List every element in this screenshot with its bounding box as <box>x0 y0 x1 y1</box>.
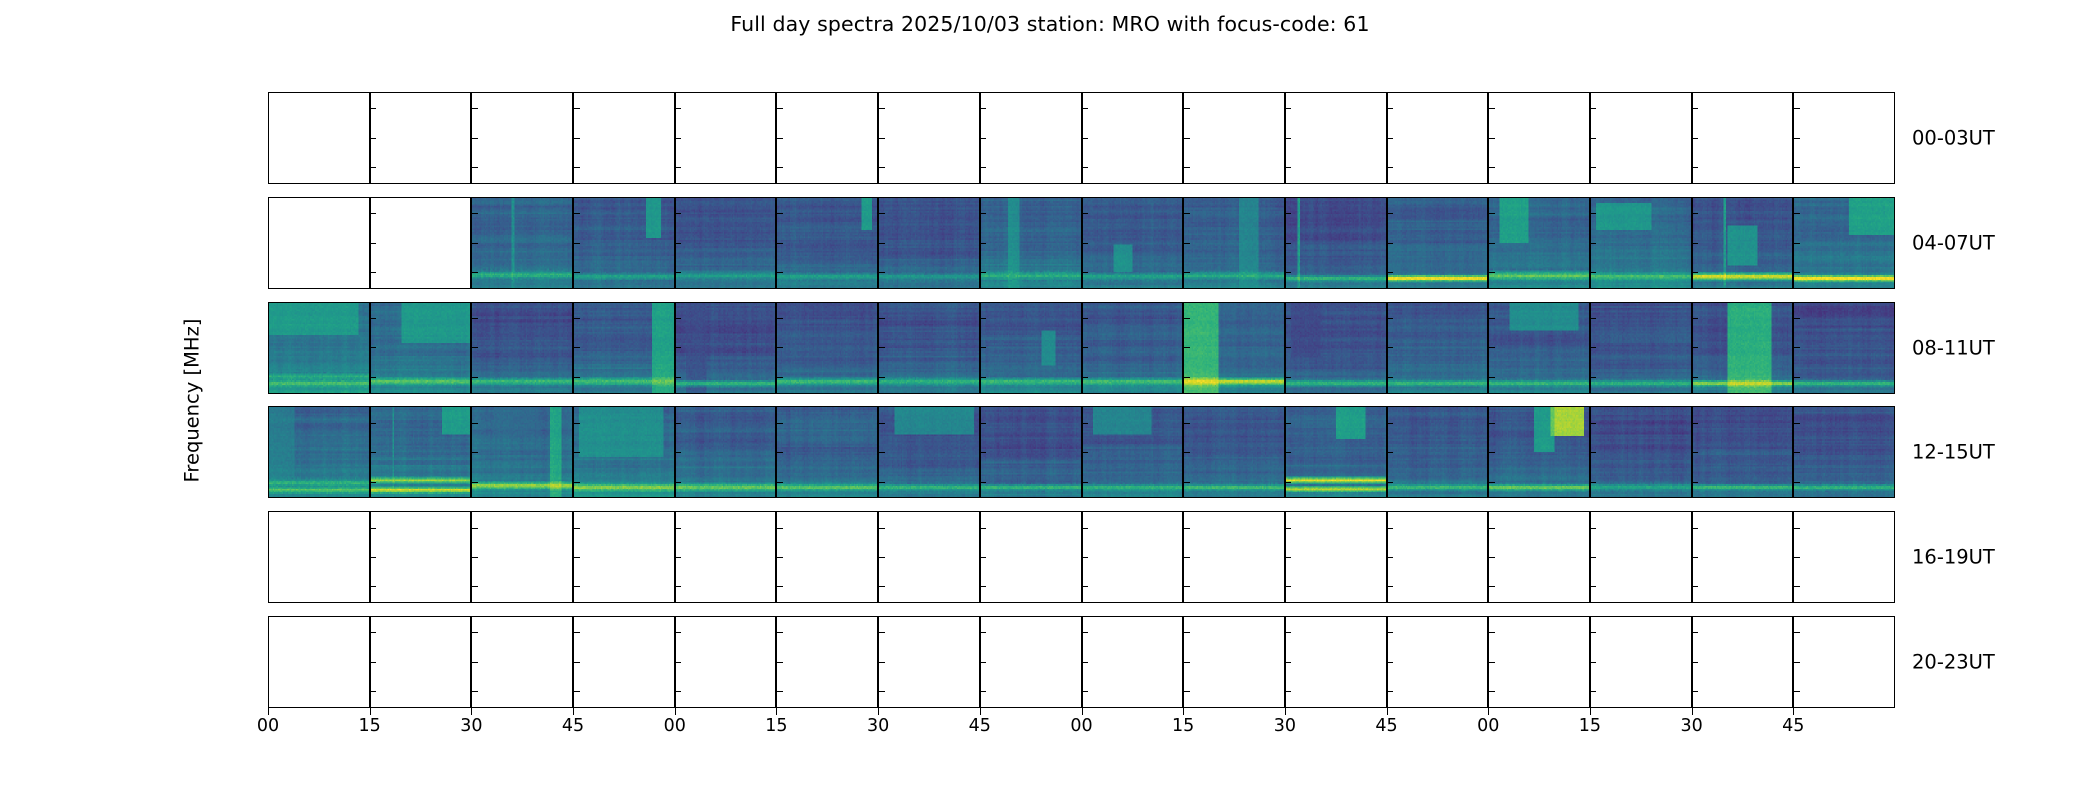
y-tick-mark <box>1286 482 1292 483</box>
y-tick-mark <box>1693 557 1699 558</box>
spectrogram-panel <box>1387 197 1489 289</box>
y-tick-mark <box>472 423 478 424</box>
y-tick-mark <box>1489 318 1495 319</box>
y-tick-mark <box>574 662 580 663</box>
spectrogram-panel <box>1692 511 1794 603</box>
y-tick-mark <box>1591 423 1597 424</box>
y-tick-mark <box>574 318 580 319</box>
y-tick-mark <box>981 557 987 558</box>
y-tick-mark <box>1184 482 1190 483</box>
y-tick-mark <box>1184 528 1190 529</box>
spectrogram-panel <box>1082 302 1184 394</box>
y-tick-mark <box>981 691 987 692</box>
y-tick-mark <box>1184 632 1190 633</box>
y-tick-mark <box>777 243 783 244</box>
y-tick-mark <box>1591 452 1597 453</box>
y-tick-mark <box>1489 557 1495 558</box>
spectrogram-panel <box>1082 406 1184 498</box>
spectrogram-panel <box>1387 616 1489 708</box>
y-tick-mark <box>879 452 885 453</box>
y-tick-mark: 50 <box>268 138 269 139</box>
y-tick-mark <box>1489 452 1495 453</box>
y-tick-mark: 75 <box>268 108 269 109</box>
y-tick-mark <box>777 377 783 378</box>
y-tick-mark <box>676 243 682 244</box>
panel-row-12-15ut: 255075 <box>268 406 1895 498</box>
y-tick-mark <box>574 347 580 348</box>
y-tick-mark <box>1388 272 1394 273</box>
y-tick-mark <box>1489 691 1495 692</box>
y-tick-mark <box>1693 452 1699 453</box>
y-tick-mark <box>1489 272 1495 273</box>
spectrogram-panel <box>1183 406 1285 498</box>
y-tick-mark <box>676 691 682 692</box>
y-tick-mark <box>777 482 783 483</box>
spectrogram-panel <box>1387 511 1489 603</box>
spectrogram-panel <box>1285 511 1387 603</box>
spectrogram-panel: 255075 <box>268 511 370 603</box>
spectrogram-panel <box>1793 616 1895 708</box>
spectrogram-panel <box>980 616 1082 708</box>
y-tick-mark <box>1083 108 1089 109</box>
y-tick-mark <box>879 377 885 378</box>
x-tick-label: 15 <box>765 716 787 736</box>
y-tick-mark <box>472 318 478 319</box>
y-axis-label: Frequency [MHz] <box>181 92 203 708</box>
x-tick-mark <box>675 708 676 715</box>
spectrogram-panel <box>675 511 777 603</box>
x-tick-mark <box>1082 708 1083 715</box>
spectrogram-panel <box>1488 406 1590 498</box>
y-tick-mark <box>879 423 885 424</box>
spectrogram-panel <box>878 302 980 394</box>
y-tick-mark <box>1794 586 1800 587</box>
x-tick-label: 30 <box>1274 716 1296 736</box>
panel-row-00-03ut: 255075 <box>268 92 1895 184</box>
y-tick-mark <box>1388 108 1394 109</box>
y-tick-mark <box>879 632 885 633</box>
spectrogram-image <box>1184 303 1284 393</box>
y-tick-mark <box>879 213 885 214</box>
spectrogram-panel <box>1285 302 1387 394</box>
y-tick-mark <box>1388 452 1394 453</box>
y-tick-mark <box>371 691 377 692</box>
y-tick-mark <box>1184 213 1190 214</box>
y-tick-mark <box>1591 662 1597 663</box>
y-tick-mark <box>777 557 783 558</box>
y-tick-mark <box>1388 347 1394 348</box>
spectrogram-image <box>777 407 877 497</box>
y-tick-mark <box>574 108 580 109</box>
y-tick-mark <box>371 662 377 663</box>
y-tick-mark <box>981 272 987 273</box>
y-tick-mark <box>981 318 987 319</box>
y-tick-mark <box>1184 586 1190 587</box>
y-tick-mark <box>981 213 987 214</box>
spectrogram-panel <box>471 511 573 603</box>
y-tick-mark <box>1388 691 1394 692</box>
y-tick-mark <box>1286 318 1292 319</box>
y-tick-mark <box>1083 167 1089 168</box>
spectrogram-panel <box>776 302 878 394</box>
spectrogram-image <box>1794 303 1894 393</box>
y-tick-mark <box>981 632 987 633</box>
y-tick-mark <box>371 167 377 168</box>
y-tick-mark <box>472 528 478 529</box>
y-tick-mark <box>1489 108 1495 109</box>
spectrogram-panel <box>776 406 878 498</box>
y-tick-mark <box>676 108 682 109</box>
y-tick-mark <box>1591 108 1597 109</box>
y-tick-mark <box>777 423 783 424</box>
y-tick-mark <box>981 586 987 587</box>
y-tick-mark <box>1693 632 1699 633</box>
spectrogram-image <box>676 303 776 393</box>
spectrogram-panel <box>980 511 1082 603</box>
y-tick-mark <box>1286 138 1292 139</box>
x-tick-mark <box>1692 708 1693 715</box>
y-tick-mark <box>1794 662 1800 663</box>
y-tick-mark <box>1489 138 1495 139</box>
y-tick-mark <box>879 318 885 319</box>
y-tick-mark <box>574 557 580 558</box>
spectrogram-image <box>1591 198 1691 288</box>
y-tick-mark <box>1286 528 1292 529</box>
row-label-04-07ut: 04-07UT <box>1912 231 1995 254</box>
spectrogram-panel <box>675 197 777 289</box>
y-tick-mark <box>1591 138 1597 139</box>
y-tick-mark <box>1388 528 1394 529</box>
x-tick-label: 30 <box>460 716 482 736</box>
spectrogram-image <box>1794 198 1894 288</box>
y-tick-mark <box>1083 318 1089 319</box>
y-tick-mark: 50 <box>268 557 269 558</box>
spectrogram-panel <box>370 92 472 184</box>
row-label-16-19ut: 16-19UT <box>1912 546 1995 569</box>
spectrogram-panel <box>878 406 980 498</box>
y-tick-mark <box>981 108 987 109</box>
y-tick-mark <box>1184 662 1190 663</box>
y-tick-mark <box>574 423 580 424</box>
spectrogram-image <box>1286 198 1386 288</box>
x-tick-label: 00 <box>1477 716 1499 736</box>
y-tick-mark <box>472 272 478 273</box>
y-tick-mark <box>1388 213 1394 214</box>
spectrogram-image <box>1693 198 1793 288</box>
y-tick-mark <box>676 347 682 348</box>
spectrogram-panel <box>573 197 675 289</box>
spectrogram-image <box>777 303 877 393</box>
spectrogram-image <box>574 303 674 393</box>
y-tick-mark <box>981 167 987 168</box>
y-tick-mark <box>1083 632 1089 633</box>
y-tick-mark <box>879 528 885 529</box>
x-tick-mark <box>268 708 269 715</box>
row-label-12-15ut: 12-15UT <box>1912 441 1995 464</box>
y-tick-mark: 25 <box>268 272 269 273</box>
y-tick-mark <box>1184 452 1190 453</box>
y-tick-mark <box>676 377 682 378</box>
y-tick-mark <box>472 452 478 453</box>
y-tick-mark <box>981 243 987 244</box>
y-tick-mark <box>1388 482 1394 483</box>
y-tick-mark <box>879 557 885 558</box>
y-tick-mark <box>1489 347 1495 348</box>
spectrogram-panel: 255075 <box>268 302 370 394</box>
spectrogram-panel <box>878 616 980 708</box>
y-tick-mark <box>371 632 377 633</box>
y-tick-mark <box>1693 586 1699 587</box>
spectrogram-panel <box>370 616 472 708</box>
spectrogram-image <box>1083 198 1183 288</box>
spectrogram-figure: Full day spectra 2025/10/03 station: MRO… <box>0 0 2100 800</box>
y-tick-mark <box>1083 272 1089 273</box>
spectrogram-panel <box>878 92 980 184</box>
y-tick-mark <box>1591 167 1597 168</box>
spectrogram-image <box>371 407 471 497</box>
spectrogram-image <box>1693 407 1793 497</box>
spectrogram-image <box>676 407 776 497</box>
y-tick-mark <box>1591 482 1597 483</box>
spectrogram-panel <box>573 511 675 603</box>
y-tick-mark <box>1489 213 1495 214</box>
y-tick-mark <box>777 586 783 587</box>
y-tick-mark <box>574 632 580 633</box>
spectrogram-image <box>981 407 1081 497</box>
y-tick-mark <box>1794 691 1800 692</box>
y-tick-mark <box>1184 108 1190 109</box>
spectrogram-panel <box>776 616 878 708</box>
y-tick-mark <box>1083 138 1089 139</box>
y-tick-mark <box>1693 528 1699 529</box>
y-tick-mark <box>981 528 987 529</box>
x-tick-mark <box>1387 708 1388 715</box>
y-tick-mark <box>777 662 783 663</box>
spectrogram-image <box>1489 303 1589 393</box>
y-tick-mark <box>1489 243 1495 244</box>
y-tick-mark <box>1388 632 1394 633</box>
spectrogram-panel <box>370 302 472 394</box>
x-tick-label: 15 <box>1579 716 1601 736</box>
x-tick-label: 30 <box>1680 716 1702 736</box>
y-tick-mark <box>981 377 987 378</box>
spectrogram-panel <box>675 302 777 394</box>
y-tick-mark <box>472 586 478 587</box>
y-tick-mark <box>1794 167 1800 168</box>
y-tick-mark <box>1184 272 1190 273</box>
y-tick-mark <box>1591 347 1597 348</box>
spectrogram-panel: 255075 <box>268 92 370 184</box>
spectrogram-panel <box>1082 197 1184 289</box>
y-tick-mark <box>981 347 987 348</box>
y-tick-mark <box>1286 108 1292 109</box>
y-tick-mark <box>371 557 377 558</box>
spectrogram-panel <box>776 92 878 184</box>
y-tick-mark <box>574 691 580 692</box>
y-tick-mark <box>1591 691 1597 692</box>
y-tick-mark <box>777 138 783 139</box>
y-tick-mark <box>1083 347 1089 348</box>
y-tick-mark <box>1591 528 1597 529</box>
panel-grid: 255075255075255075255075255075255075 <box>268 92 1895 708</box>
y-tick-mark <box>1489 586 1495 587</box>
y-tick-mark <box>1794 632 1800 633</box>
y-tick-mark <box>1591 586 1597 587</box>
y-tick-mark <box>1693 377 1699 378</box>
spectrogram-panel <box>1488 197 1590 289</box>
spectrogram-panel <box>471 616 573 708</box>
spectrogram-panel <box>370 511 472 603</box>
x-tick-label: 00 <box>257 716 279 736</box>
spectrogram-image <box>981 303 1081 393</box>
y-tick-mark <box>1184 347 1190 348</box>
spectrogram-image <box>1591 303 1691 393</box>
y-tick-mark <box>1286 452 1292 453</box>
spectrogram-panel <box>1488 616 1590 708</box>
y-tick-mark <box>981 423 987 424</box>
y-tick-mark <box>1184 377 1190 378</box>
spectrogram-panel <box>471 302 573 394</box>
x-tick-mark <box>878 708 879 715</box>
spectrogram-image <box>472 303 572 393</box>
y-tick-mark <box>1388 586 1394 587</box>
y-tick-mark <box>1388 377 1394 378</box>
x-tick-label: 45 <box>562 716 584 736</box>
y-tick-mark <box>879 586 885 587</box>
y-tick-mark <box>1286 586 1292 587</box>
y-tick-mark <box>1083 691 1089 692</box>
y-tick-mark <box>1083 528 1089 529</box>
y-tick-mark <box>1286 243 1292 244</box>
y-tick-mark: 25 <box>268 167 269 168</box>
y-tick-mark <box>676 662 682 663</box>
y-tick-mark <box>472 167 478 168</box>
y-tick-mark <box>371 272 377 273</box>
y-tick-mark: 25 <box>268 586 269 587</box>
y-tick-mark <box>1083 586 1089 587</box>
y-tick-mark <box>472 691 478 692</box>
y-tick-mark <box>1693 347 1699 348</box>
y-tick-mark <box>1591 632 1597 633</box>
y-tick-mark <box>777 452 783 453</box>
y-tick-mark <box>371 347 377 348</box>
y-tick-mark <box>1591 213 1597 214</box>
y-tick-mark <box>1286 423 1292 424</box>
x-tick-label: 45 <box>969 716 991 736</box>
y-tick-mark <box>371 138 377 139</box>
y-tick-mark <box>1083 213 1089 214</box>
y-tick-mark: 50 <box>268 452 269 453</box>
spectrogram-image <box>1693 303 1793 393</box>
spectrogram-panel <box>1793 406 1895 498</box>
y-tick-mark <box>1083 662 1089 663</box>
y-tick-mark <box>676 318 682 319</box>
y-tick-mark <box>1286 557 1292 558</box>
y-tick-mark <box>371 377 377 378</box>
spectrogram-panel <box>1488 511 1590 603</box>
y-tick-mark <box>777 318 783 319</box>
y-tick-mark <box>1693 213 1699 214</box>
y-tick-mark <box>676 213 682 214</box>
spectrogram-panel <box>675 92 777 184</box>
y-tick-mark: 25 <box>268 377 269 378</box>
spectrogram-panel <box>1183 616 1285 708</box>
spectrogram-panel <box>675 616 777 708</box>
y-tick-mark <box>1693 138 1699 139</box>
y-tick-mark <box>1794 347 1800 348</box>
spectrogram-panel <box>471 197 573 289</box>
y-tick-mark: 75 <box>268 528 269 529</box>
y-tick-mark: 25 <box>268 482 269 483</box>
panel-row-20-23ut: 255075 <box>268 616 1895 708</box>
y-tick-mark <box>574 377 580 378</box>
y-tick-mark <box>777 213 783 214</box>
y-tick-mark <box>1794 452 1800 453</box>
y-tick-mark <box>981 452 987 453</box>
x-tick-mark <box>1488 708 1489 715</box>
y-tick-mark: 75 <box>268 318 269 319</box>
y-tick-mark <box>371 243 377 244</box>
y-tick-mark <box>1794 557 1800 558</box>
y-tick-mark <box>1286 377 1292 378</box>
spectrogram-panel <box>675 406 777 498</box>
y-tick-mark <box>1286 662 1292 663</box>
y-tick-mark <box>1184 691 1190 692</box>
row-label-08-11ut: 08-11UT <box>1912 336 1995 359</box>
spectrogram-image <box>1794 407 1894 497</box>
y-tick-mark <box>1693 318 1699 319</box>
x-axis: 00153045001530450015304500153045 <box>268 708 1895 748</box>
spectrogram-panel <box>1488 302 1590 394</box>
x-tick-mark <box>1793 708 1794 715</box>
y-tick-mark <box>777 167 783 168</box>
y-tick-mark: 50 <box>268 243 269 244</box>
y-tick-mark <box>472 213 478 214</box>
spectrogram-panel <box>471 406 573 498</box>
y-tick-mark <box>676 272 682 273</box>
x-tick-label: 30 <box>867 716 889 736</box>
spectrogram-panel <box>1488 92 1590 184</box>
spectrogram-image <box>1083 407 1183 497</box>
spectrogram-image <box>269 407 369 497</box>
y-tick-mark <box>1286 632 1292 633</box>
y-tick-mark <box>574 482 580 483</box>
y-tick-mark <box>1184 138 1190 139</box>
y-tick-mark: 25 <box>268 691 269 692</box>
y-tick-mark <box>574 272 580 273</box>
spectrogram-panel <box>1082 511 1184 603</box>
y-tick-mark <box>777 347 783 348</box>
spectrogram-panel <box>573 92 675 184</box>
y-tick-mark <box>676 423 682 424</box>
spectrogram-panel <box>878 197 980 289</box>
spectrogram-image <box>1388 407 1488 497</box>
y-tick-mark <box>879 347 885 348</box>
y-tick-mark <box>879 482 885 483</box>
y-tick-mark <box>1388 662 1394 663</box>
y-tick-mark <box>371 528 377 529</box>
y-tick-mark <box>879 272 885 273</box>
y-tick-mark <box>1184 167 1190 168</box>
y-tick-mark <box>879 108 885 109</box>
spectrogram-panel <box>471 92 573 184</box>
y-tick-mark <box>1083 452 1089 453</box>
y-tick-mark <box>472 632 478 633</box>
y-tick-mark <box>676 528 682 529</box>
y-tick-mark: 50 <box>268 662 269 663</box>
x-tick-label: 15 <box>359 716 381 736</box>
y-tick-mark <box>1286 167 1292 168</box>
